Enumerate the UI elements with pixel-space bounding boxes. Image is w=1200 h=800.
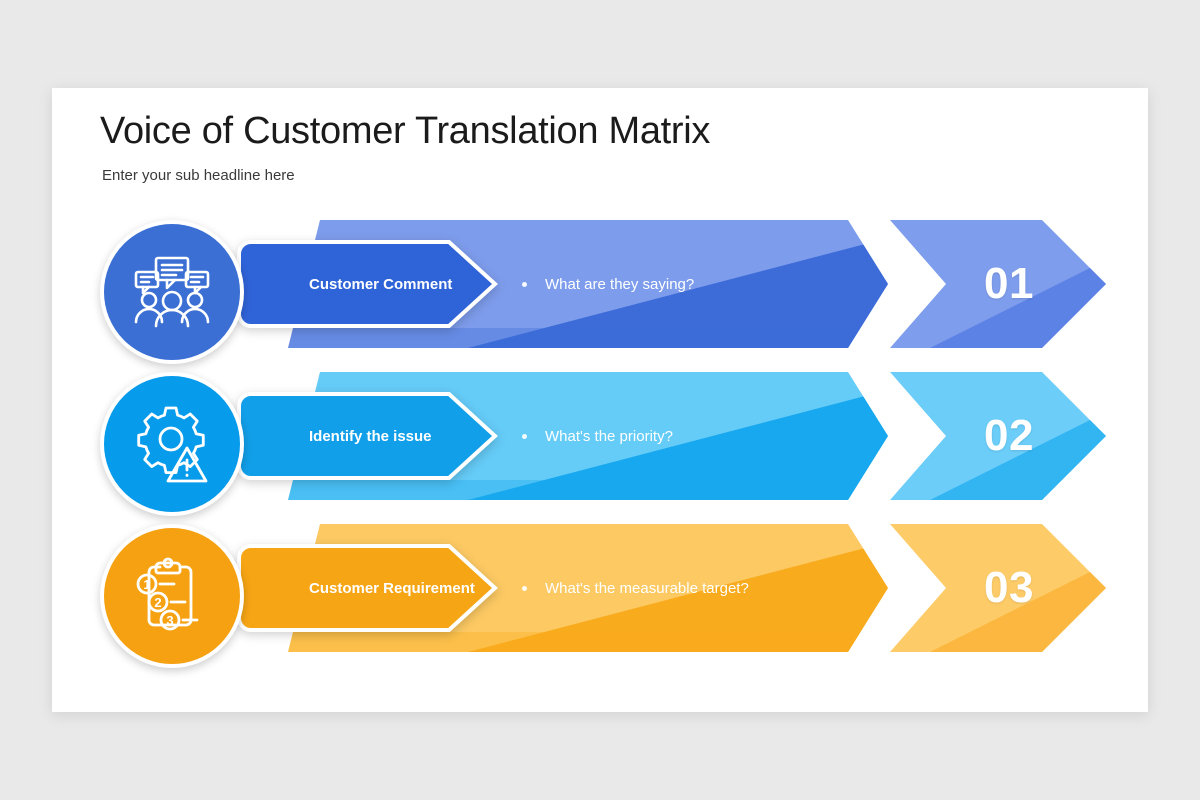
clipboard-numbered-list-icon: 1 2 3 [130,554,214,638]
label-text: Customer Requirement [237,544,467,632]
bullet-text: What's the priority? [545,428,673,445]
page-subtitle: Enter your sub headline here [102,167,1000,185]
icon-circle[interactable]: 1 2 3 [100,524,244,668]
icon-circle[interactable] [100,220,244,364]
step-number: 02 [890,372,1106,500]
page-title: Voice of Customer Translation Matrix [100,110,1000,154]
bullet-dot-icon [522,586,527,591]
number-arrow-shape: 02 [890,372,1106,500]
process-row[interactable]: What's the priority? 02 Identify the iss… [52,360,1148,512]
label-text: Identify the issue [237,392,467,480]
label-pill-shape[interactable]: Customer Comment [237,240,499,328]
label-text: Customer Comment [237,240,467,328]
gear-warning-icon [130,402,214,486]
people-chat-icon [130,250,214,334]
number-arrow-shape: 01 [890,220,1106,348]
bullet-text: What are they saying? [545,276,694,293]
bullet-item: What are they saying? [522,220,694,348]
svg-text:1: 1 [143,577,150,592]
label-pill-shape[interactable]: Customer Requirement [237,544,499,632]
bullet-item: What's the priority? [522,372,673,500]
label-pill-shape[interactable]: Identify the issue [237,392,499,480]
step-number: 03 [890,524,1106,652]
bullet-item: What's the measurable target? [522,524,749,652]
number-arrow-shape: 03 [890,524,1106,652]
bullet-dot-icon [522,434,527,439]
process-row[interactable]: What are they saying? 01 Customer Commen… [52,208,1148,360]
svg-text:3: 3 [166,613,173,628]
bullet-text: What's the measurable target? [545,580,749,597]
slide-card: Voice of Customer Translation Matrix Ent… [52,88,1148,712]
title-block: Voice of Customer Translation Matrix Ent… [100,110,1000,185]
svg-text:2: 2 [154,595,161,610]
step-number: 01 [890,220,1106,348]
process-row[interactable]: What's the measurable target? 03 Custome… [52,512,1148,664]
bullet-dot-icon [522,282,527,287]
icon-circle[interactable] [100,372,244,516]
